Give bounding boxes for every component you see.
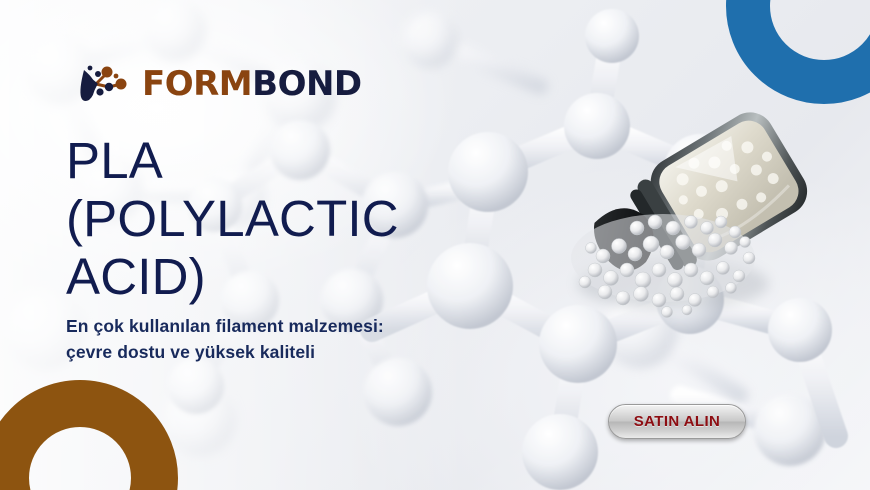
pla-product-banner: FORMBOND PLA (POLYLACTIC ACID) En çok ku…: [0, 0, 870, 490]
brand-wordmark-form: FORM: [142, 64, 252, 104]
brand-wordmark-bond: BOND: [252, 64, 362, 104]
page-title: PLA (POLYLACTIC ACID): [66, 132, 536, 306]
buy-now-button-label: SATIN ALIN: [634, 413, 721, 430]
page-subtitle: En çok kullanılan filament malzemesi: çe…: [66, 313, 466, 365]
brand-logo[interactable]: FORMBOND: [76, 60, 362, 108]
buy-now-button[interactable]: SATIN ALIN: [608, 404, 746, 439]
brand-wordmark: FORMBOND: [142, 67, 362, 101]
molecule-icon: [76, 60, 132, 108]
product-image-jar-with-pellets: [545, 88, 835, 323]
